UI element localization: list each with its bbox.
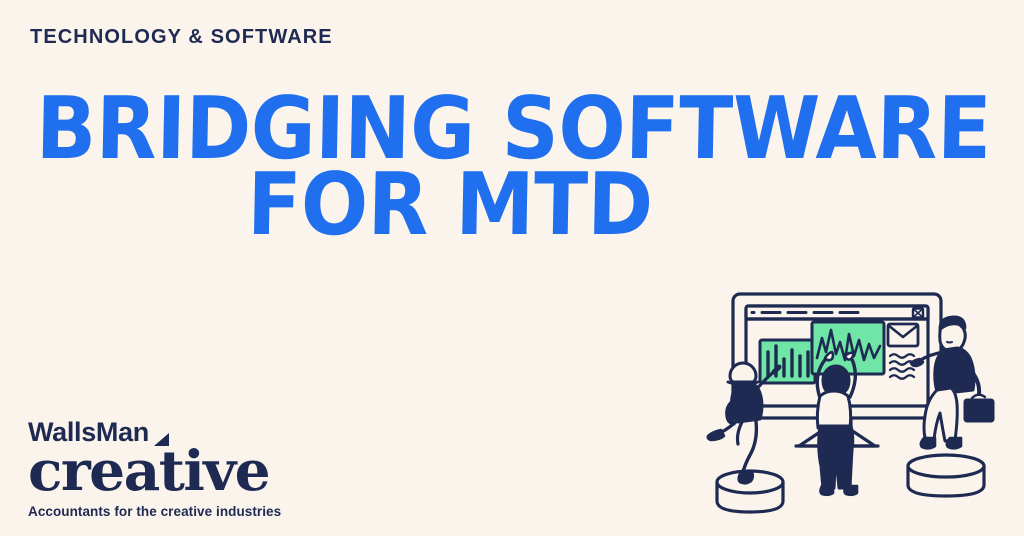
- category-eyebrow: TECHNOLOGY & SOFTWARE: [30, 27, 333, 47]
- pedestal-right: [908, 455, 984, 496]
- brand-logo: WallsMan creative Accountants for the cr…: [28, 419, 288, 519]
- team-analysing-dashboard-illustration: [692, 280, 1022, 532]
- logo-tagline: Accountants for the creative industries: [28, 505, 288, 519]
- close-icon[interactable]: [913, 309, 923, 318]
- envelope-icon: [888, 324, 918, 346]
- poster-canvas: TECHNOLOGY & SOFTWARE BRIDGING SOFTWARE …: [0, 0, 1024, 536]
- headline-line-2: FOR MTD: [35, 168, 864, 244]
- page-title: BRIDGING SOFTWARE FOR MTD: [0, 92, 900, 243]
- logo-name-bottom: creative: [28, 449, 296, 493]
- illustration-svg: [692, 280, 1022, 532]
- briefcase: [965, 395, 993, 421]
